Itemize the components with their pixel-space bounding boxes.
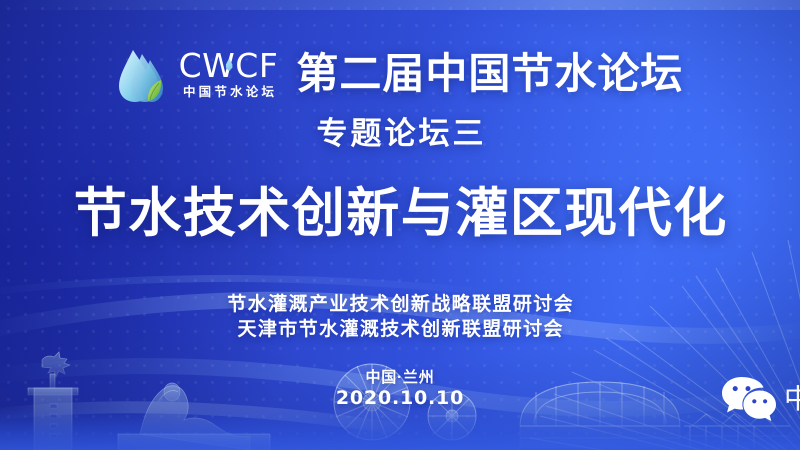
wechat-icon	[719, 374, 779, 424]
meeting-line: 天津市节水灌溉技术创新联盟研讨会	[0, 317, 800, 342]
watermark-text: 中	[784, 385, 800, 413]
logo-chinese-name: 中国节水论坛	[180, 86, 277, 99]
meeting-list: 节水灌溉产业技术创新战略联盟研讨会 天津市节水灌溉技术创新联盟研讨会	[0, 292, 800, 342]
logo-title-row: CWCF 中国节水论坛 第二届中国节水论坛	[0, 44, 800, 104]
water-drop-leaf-logo	[117, 46, 165, 104]
logo-wordmark: CWCF 中国节水论坛	[179, 49, 279, 99]
venue-block: 中国·兰州 2020.10.10	[0, 368, 800, 410]
page-title: 第二届中国节水论坛	[296, 53, 683, 95]
logo-acronym: CWCF	[179, 49, 279, 82]
main-headline: 节水技术创新与灌区现代化	[0, 187, 800, 240]
headline-stack: 专题论坛三 节水技术创新与灌区现代化 节水灌溉产业技术创新战略联盟研讨会 天津市…	[0, 118, 800, 410]
poster-canvas: CWCF 中国节水论坛 第二届中国节水论坛 专题论坛三 节水技术创新与灌区现代化…	[0, 0, 800, 450]
background-top-sheen	[0, 0, 800, 10]
venue-city: 中国·兰州	[0, 368, 800, 387]
wechat-watermark: 中	[719, 374, 800, 424]
sub-forum-label: 专题论坛三	[0, 118, 800, 149]
meeting-line: 节水灌溉产业技术创新战略联盟研讨会	[0, 292, 800, 317]
venue-date: 2020.10.10	[0, 387, 800, 410]
